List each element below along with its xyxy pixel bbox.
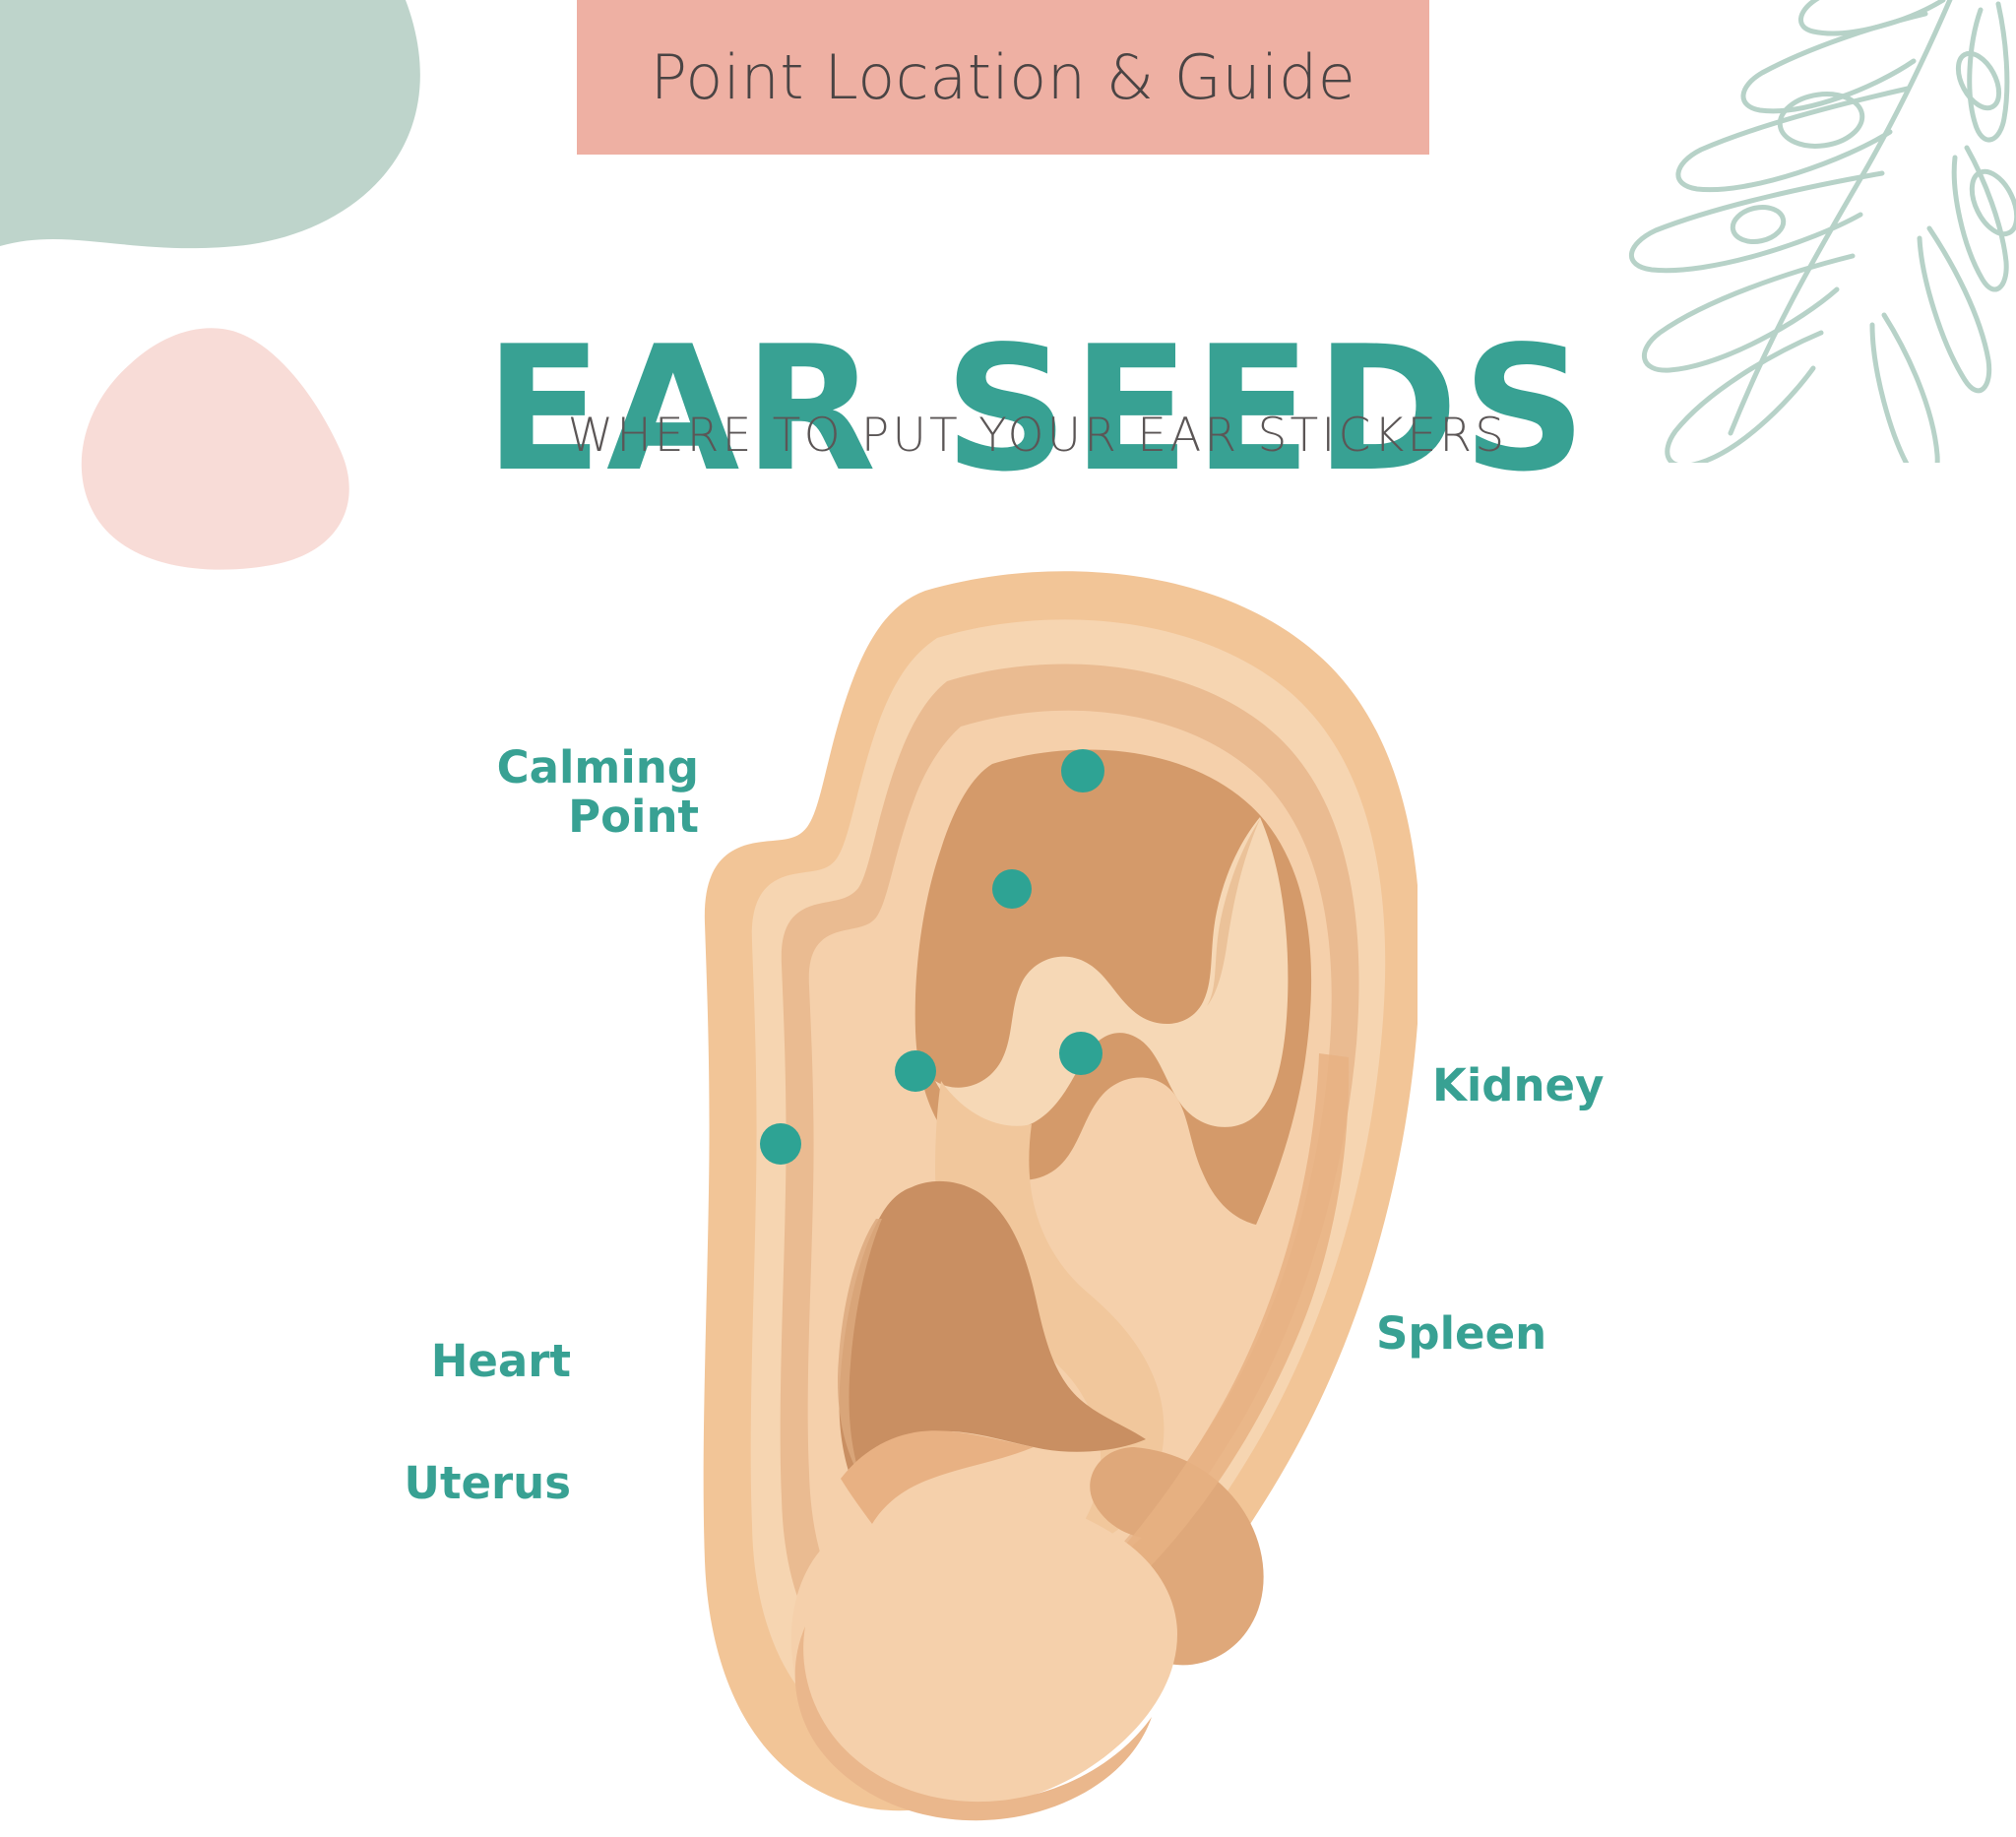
dot-heart — [895, 1050, 936, 1092]
label-spleen: Spleen — [1376, 1309, 1701, 1359]
label-heart: Heart — [256, 1337, 571, 1386]
ear-diagram — [630, 561, 1417, 1831]
poster-canvas: Point Location & Guide EAR SEEDS WHERE T… — [0, 0, 2016, 1837]
dot-uterus — [760, 1123, 801, 1165]
label-calming-point: Calming Point — [295, 743, 699, 843]
dot-calming-point — [1061, 749, 1104, 792]
dot-spleen — [1059, 1032, 1102, 1075]
header-banner: Point Location & Guide — [577, 0, 1429, 155]
sage-blob-shape — [0, 0, 433, 364]
label-uterus: Uterus — [256, 1459, 571, 1508]
dot-kidney — [992, 869, 1032, 909]
ear-illustration-svg — [630, 561, 1417, 1831]
banner-label: Point Location & Guide — [651, 41, 1356, 113]
label-kidney: Kidney — [1432, 1061, 1757, 1110]
page-subtitle: WHERE TO PUT YOUR EAR STICKERS — [0, 409, 2016, 463]
